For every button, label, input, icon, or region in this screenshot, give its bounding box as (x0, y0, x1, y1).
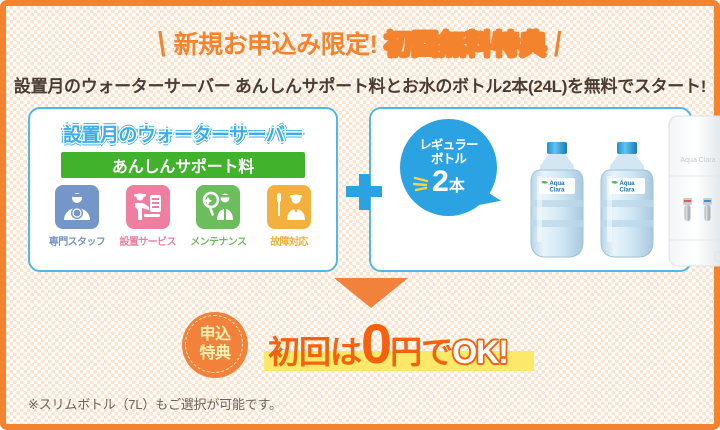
svg-text:Aqua Clara: Aqua Clara (680, 157, 715, 164)
support-fee-label: あんしんサポート料 (112, 153, 254, 177)
card-title: 設置月のウォーターサーバー (30, 120, 336, 147)
bubble-count-unit: 本 (449, 178, 465, 195)
bottle-card: レギュラー ボトル 2本 A (369, 107, 692, 272)
plus-icon (346, 174, 382, 210)
offer-badge: 申込 特典 (182, 312, 248, 378)
promo-banner: \ 新規お申込み限定! 初回無料特典 / 設置月のウォーターサーバー あんしんサ… (0, 0, 720, 430)
service-item-staff: 専門スタッフ (44, 185, 110, 248)
bottle-count-bubble: レギュラー ボトル 2本 (400, 119, 497, 216)
svg-text:Aqua: Aqua (550, 181, 566, 187)
price-statement: 初回は 0 円で OK! (268, 316, 508, 376)
support-fee-bar: あんしんサポート料 (61, 152, 305, 178)
headline-emphasis: 初回無料特典 (384, 32, 546, 59)
maintenance-icon (196, 185, 240, 229)
footnote: ※スリムボトル（7L）もご選択が可能です。 (28, 394, 282, 413)
service-label: 故障対応 (270, 233, 308, 248)
price-prefix: 初回は (268, 327, 361, 373)
service-label: 専門スタッフ (49, 233, 105, 248)
bubble-count: 2本 (432, 167, 465, 197)
service-label: 設置サービス (119, 233, 175, 248)
service-item-installation: 設置サービス (115, 185, 181, 248)
service-icon-row: 専門スタッフ 設置サービス (44, 185, 322, 248)
staff-person-icon (55, 185, 99, 229)
service-card: 設置月のウォーターサーバー あんしんサポート料 専門スタッフ (28, 107, 338, 272)
offer-badge-line2: 特典 (199, 345, 230, 364)
slash-right-icon: / (554, 28, 562, 62)
price-unit: 円で (390, 327, 452, 373)
headline-lead: 新規お申込み限定! (174, 33, 378, 58)
price-value: 0 (361, 316, 390, 372)
svg-text:Aqua: Aqua (620, 181, 636, 187)
offer-badge-line1: 申込 (199, 326, 230, 345)
water-server-dispenser: Aqua Clara (665, 114, 720, 269)
svg-text:Clara: Clara (549, 188, 565, 194)
price-ok: OK! (452, 334, 508, 371)
bubble-count-number: 2 (432, 165, 449, 198)
slash-left-icon: \ (158, 28, 166, 62)
sparkle-icon (412, 174, 432, 194)
bubble-line1: レギュラー (419, 138, 478, 152)
water-bottle: Aqua Clara (519, 142, 595, 260)
installation-icon (126, 185, 170, 229)
water-bottle: Aqua Clara (589, 142, 665, 260)
service-item-maintenance: メンテナンス (185, 185, 251, 248)
repair-wrench-icon (267, 185, 311, 229)
headline: \ 新規お申込み限定! 初回無料特典 / (6, 28, 714, 62)
down-arrow-icon (334, 278, 408, 308)
svg-text:Clara: Clara (619, 188, 635, 194)
service-item-repair: 故障対応 (256, 185, 322, 248)
service-label: メンテナンス (190, 233, 246, 248)
bubble-line2: ボトル (431, 152, 466, 166)
subheadline: 設置月のウォーターサーバー あんしんサポート料とお水のボトル2本(24L)を無料… (6, 72, 714, 97)
